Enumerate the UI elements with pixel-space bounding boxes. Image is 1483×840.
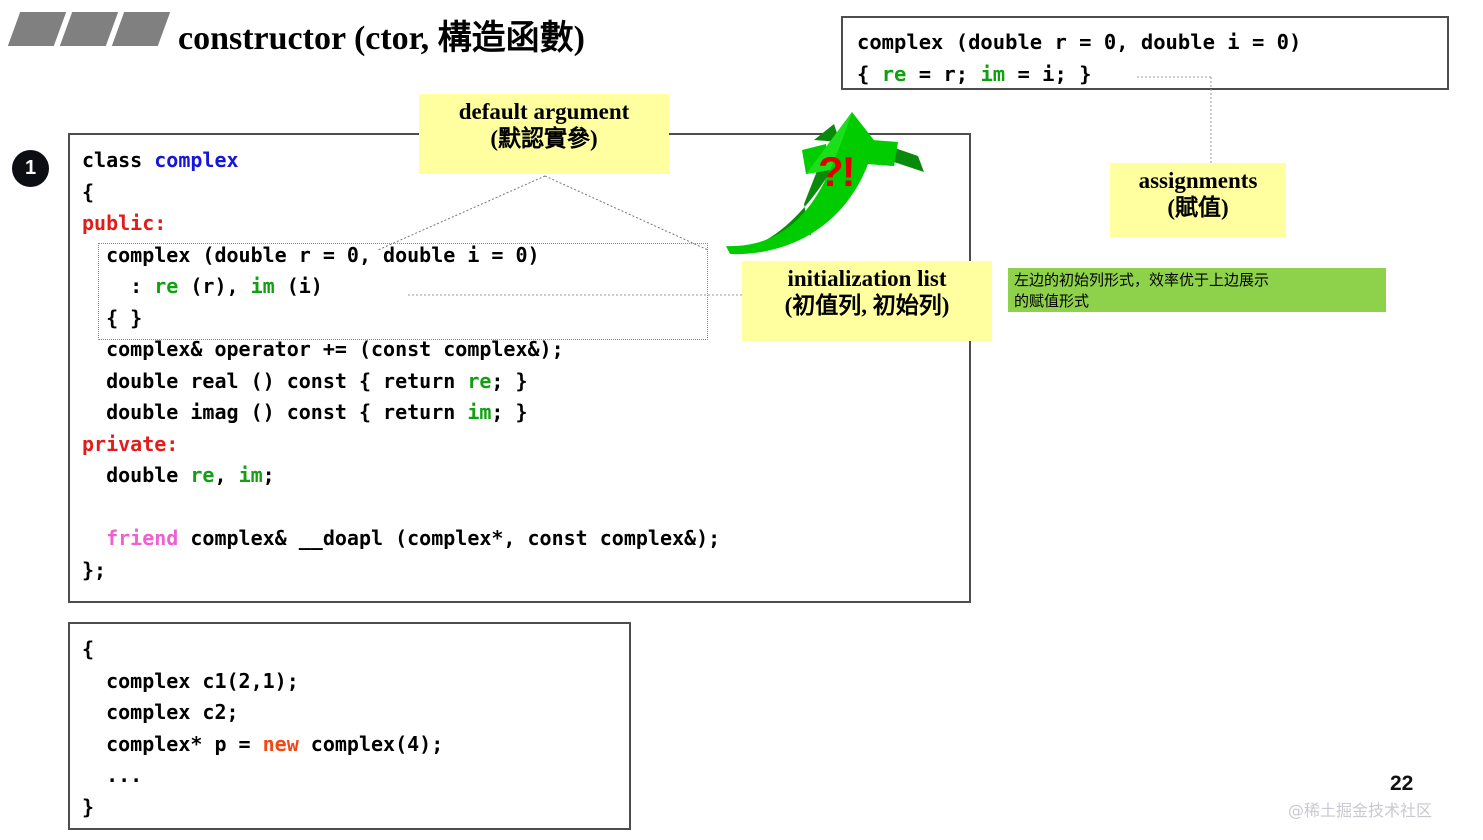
us-l1: { [82,637,94,661]
logo-bar-1 [8,12,66,46]
cl-l9-im: im [467,400,491,424]
tr-line1: complex (double r = 0, double i = 0) [857,30,1301,54]
code-block-assignment-ctor: complex (double r = 0, double i = 0) { r… [841,16,1449,90]
us-l6: } [82,795,94,819]
cl-l13-rest: complex& __doapl (complex*, const comple… [178,526,720,550]
annotation-note-line1: 左边的初始列形式，效率优于上边展示 [1014,270,1382,291]
callout-initialization-list-en: initialization list [750,265,984,292]
cl-l3-public: public: [82,211,166,235]
callout-assignments: assignments (賦值) [1110,163,1286,237]
us-l5-ellipsis: ... [82,763,142,787]
cl-l11-a: double [82,463,190,487]
tr-line2-b: = r; [906,62,980,86]
tr-line2-c: = i; } [1005,62,1091,86]
annotation-note-line2: 的赋值形式 [1014,291,1382,312]
code-text-class-complex: class complex { public: complex (double … [82,145,720,586]
page-number: 22 [1390,772,1413,796]
ctor-highlight-box [98,243,708,340]
cl-l8-b: ; } [491,369,527,393]
slide-canvas: constructor (ctor, 構造函數) 1 complex (doub… [0,0,1483,840]
logo-bars [8,12,158,46]
step-badge-1: 1 [12,150,49,187]
callout-initialization-list-zh: (初值列, 初始列) [750,292,984,319]
cl-l13-friend: friend [82,526,178,550]
logo-bar-3 [112,12,170,46]
us-l4-b: complex(4); [299,732,444,756]
cl-l11-b: , [214,463,238,487]
cl-l9-b: ; } [491,400,527,424]
callout-default-argument-zh: (默認實參) [427,125,661,152]
us-l2: complex c1(2,1); [82,669,299,693]
code-text-assignment-ctor: complex (double r = 0, double i = 0) { r… [857,26,1301,90]
logo-bar-2 [60,12,118,46]
tr-line2-im: im [980,62,1005,86]
tr-line2-a: { [857,62,882,86]
watermark-text: @稀土掘金技术社区 [1288,797,1432,821]
cl-l2: { [82,180,94,204]
cl-l10-private: private: [82,432,178,456]
page-title: constructor (ctor, 構造函數) [178,10,585,59]
code-text-usage: { complex c1(2,1); complex c2; complex* … [82,634,443,823]
tr-line2-re: re [882,62,907,86]
cl-l1-kw: class [82,148,154,172]
callout-default-argument: default argument (默認實參) [419,94,669,174]
cl-l9-a: double imag () const { return [82,400,467,424]
callout-assignments-en: assignments [1118,167,1278,194]
cl-l14: }; [82,558,106,582]
cl-l11-im: im [239,463,263,487]
cl-l7-operator: complex& operator += (const complex&); [82,337,564,361]
code-block-usage: { complex c1(2,1); complex c2; complex* … [68,622,631,830]
cl-l11-c: ; [263,463,275,487]
question-exclamation-mark: ?! [818,148,854,196]
cl-l8-a: double real () const { return [82,369,467,393]
us-l4-a: complex* p = [82,732,263,756]
callout-initialization-list: initialization list (初值列, 初始列) [742,261,992,341]
us-l3: complex c2; [82,700,239,724]
callout-assignments-zh: (賦值) [1118,194,1278,221]
callout-default-argument-en: default argument [427,98,661,125]
us-l4-new: new [263,732,299,756]
cl-l8-re: re [467,369,491,393]
cl-l1-name: complex [154,148,238,172]
annotation-note-green: 左边的初始列形式，效率优于上边展示 的赋值形式 [1008,268,1386,312]
cl-l11-re: re [190,463,214,487]
